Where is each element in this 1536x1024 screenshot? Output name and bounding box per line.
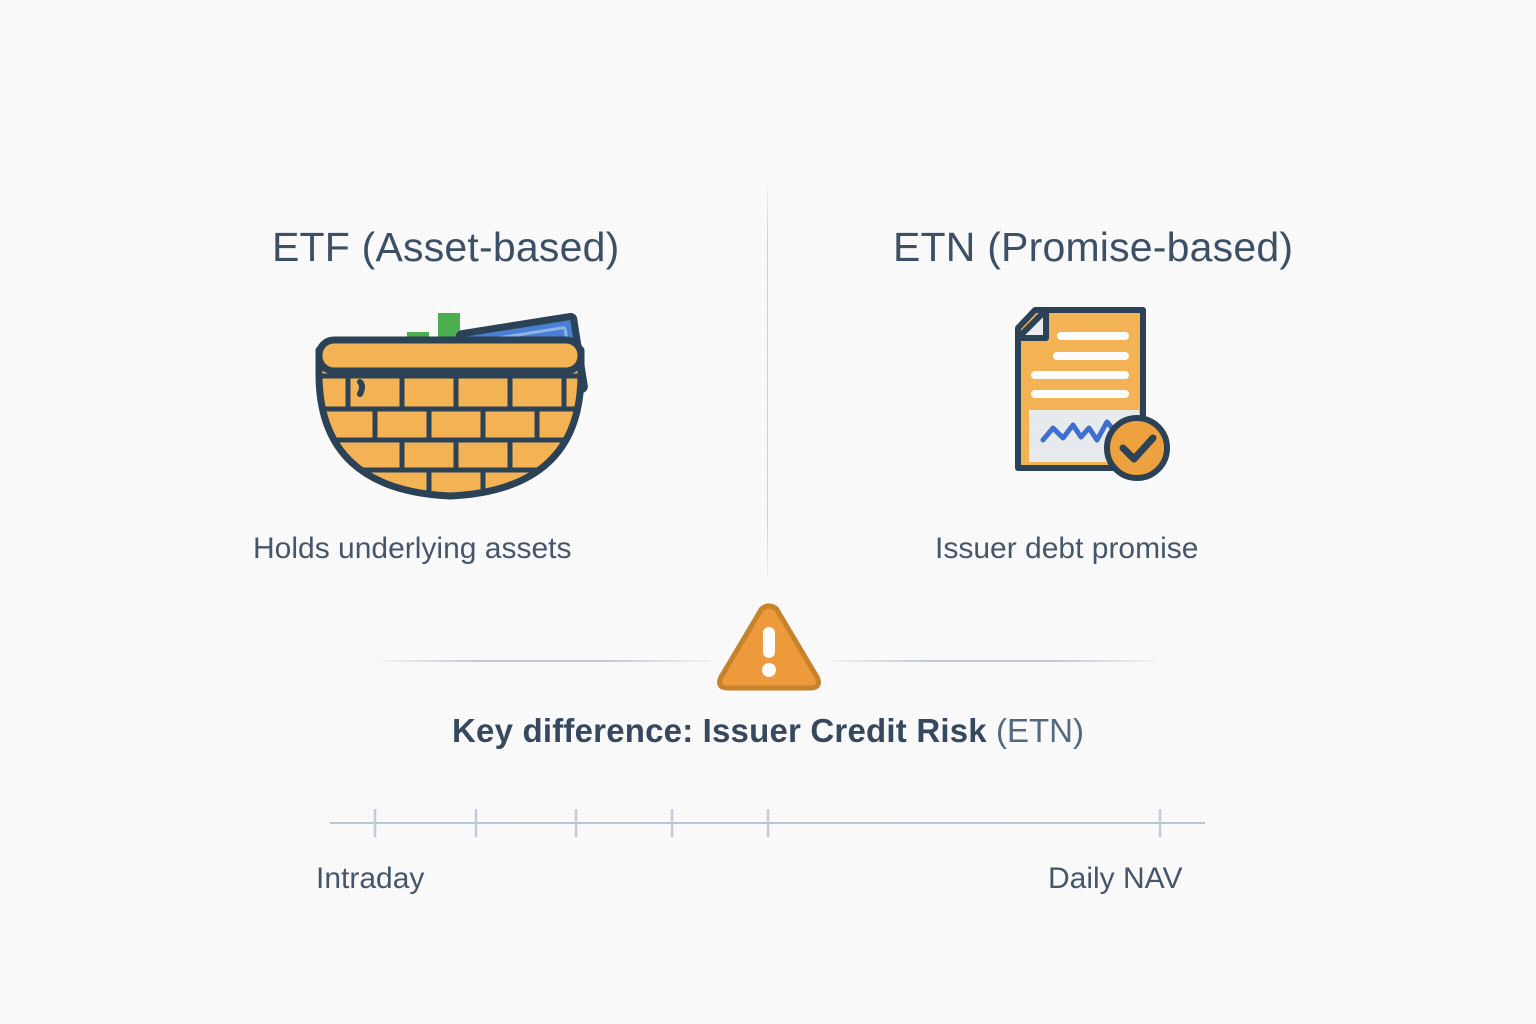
basket-weave (313, 340, 587, 496)
column-divider (767, 186, 768, 578)
liquidity-axis (330, 800, 1205, 846)
infographic-canvas: ETF (Asset-based) (0, 0, 1536, 1024)
key-difference-statement: Key difference: Issuer Credit Risk (ETN) (0, 712, 1536, 750)
basket-of-assets-icon: $ (305, 300, 595, 505)
column-title-etf: ETF (Asset-based) (272, 224, 619, 271)
warning-triangle-icon (714, 601, 824, 695)
axis-label-intraday: Intraday (316, 862, 424, 896)
axis-label-daily-nav: Daily NAV (1048, 862, 1182, 896)
key-difference-prefix: Key difference: (452, 712, 693, 749)
key-difference-suffix: (ETN) (996, 712, 1084, 749)
column-caption-etn: Issuer debt promise (935, 532, 1198, 566)
column-title-etn: ETN (Promise-based) (893, 224, 1293, 271)
signed-note-document-icon (1003, 300, 1183, 495)
divider-rule-right (830, 660, 1156, 662)
column-caption-etf: Holds underlying assets (253, 532, 572, 566)
key-difference-emphasis: Issuer Credit Risk (703, 712, 987, 749)
divider-rule-left (380, 660, 710, 662)
